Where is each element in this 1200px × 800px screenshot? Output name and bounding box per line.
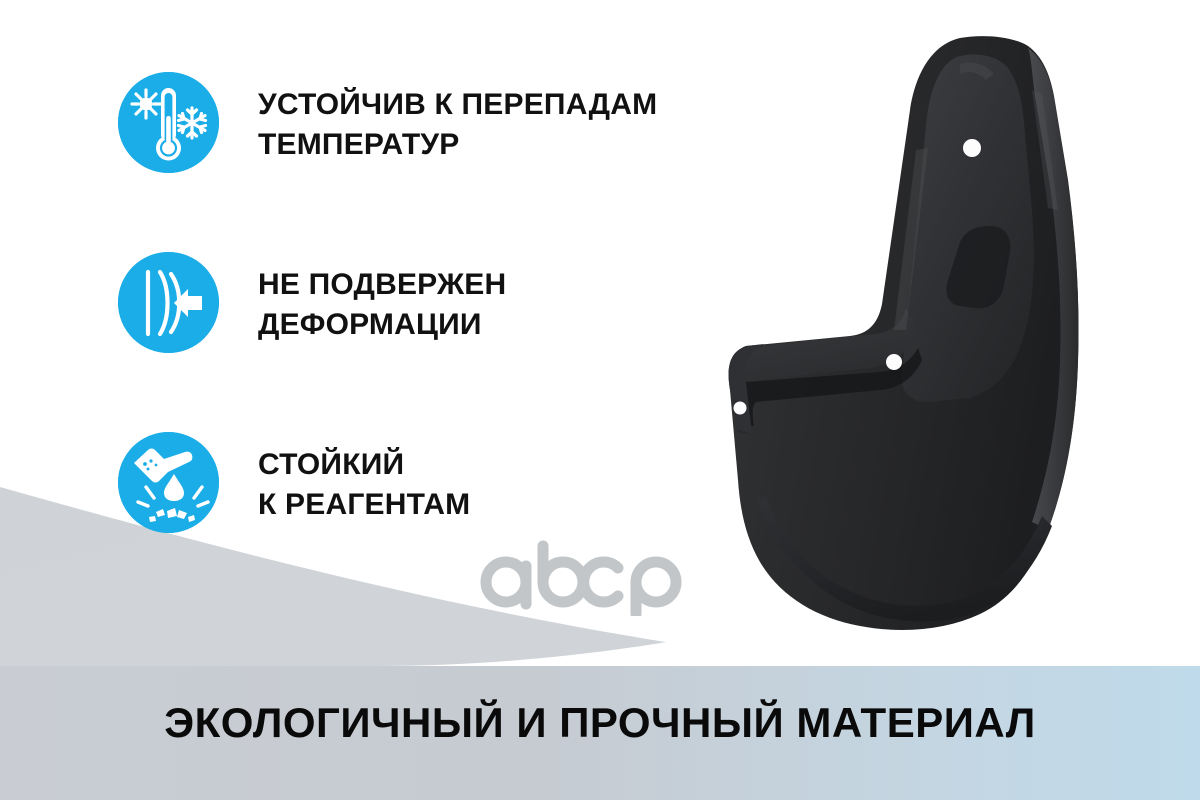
mounting-hole: [886, 354, 902, 370]
thermometer-sun-snowflake-icon: [118, 72, 219, 173]
feature-item-reagents: СТОЙКИЙ К РЕАГЕНТАМ: [118, 432, 470, 533]
promo-banner: УСТОЙЧИВ К ПЕРЕПАДАМ ТЕМПЕРАТУР НЕ ПОДВЕ…: [0, 0, 1200, 800]
deformation-arrow-icon: [118, 252, 219, 353]
feature-item-deformation: НЕ ПОДВЕРЖЕН ДЕФОРМАЦИИ: [118, 252, 506, 353]
feature-label: УСТОЙЧИВ К ПЕРЕПАДАМ ТЕМПЕРАТУР: [258, 72, 657, 164]
mounting-hole: [734, 402, 747, 415]
banner-headline: ЭКОЛОГИЧНЫЙ И ПРОЧНЫЙ МАТЕРИАЛ: [0, 699, 1200, 747]
feature-label: НЕ ПОДВЕРЖЕН ДЕФОРМАЦИИ: [258, 252, 506, 344]
feature-item-temperature: УСТОЙЧИВ К ПЕРЕПАДАМ ТЕМПЕРАТУР: [118, 72, 657, 173]
feature-label: СТОЙКИЙ К РЕАГЕНТАМ: [258, 432, 470, 524]
mud-flap-photo: [660, 30, 1120, 670]
mounting-hole: [963, 139, 981, 157]
flask-droplet-splash-icon: [118, 432, 219, 533]
abcp-watermark: [478, 536, 698, 616]
